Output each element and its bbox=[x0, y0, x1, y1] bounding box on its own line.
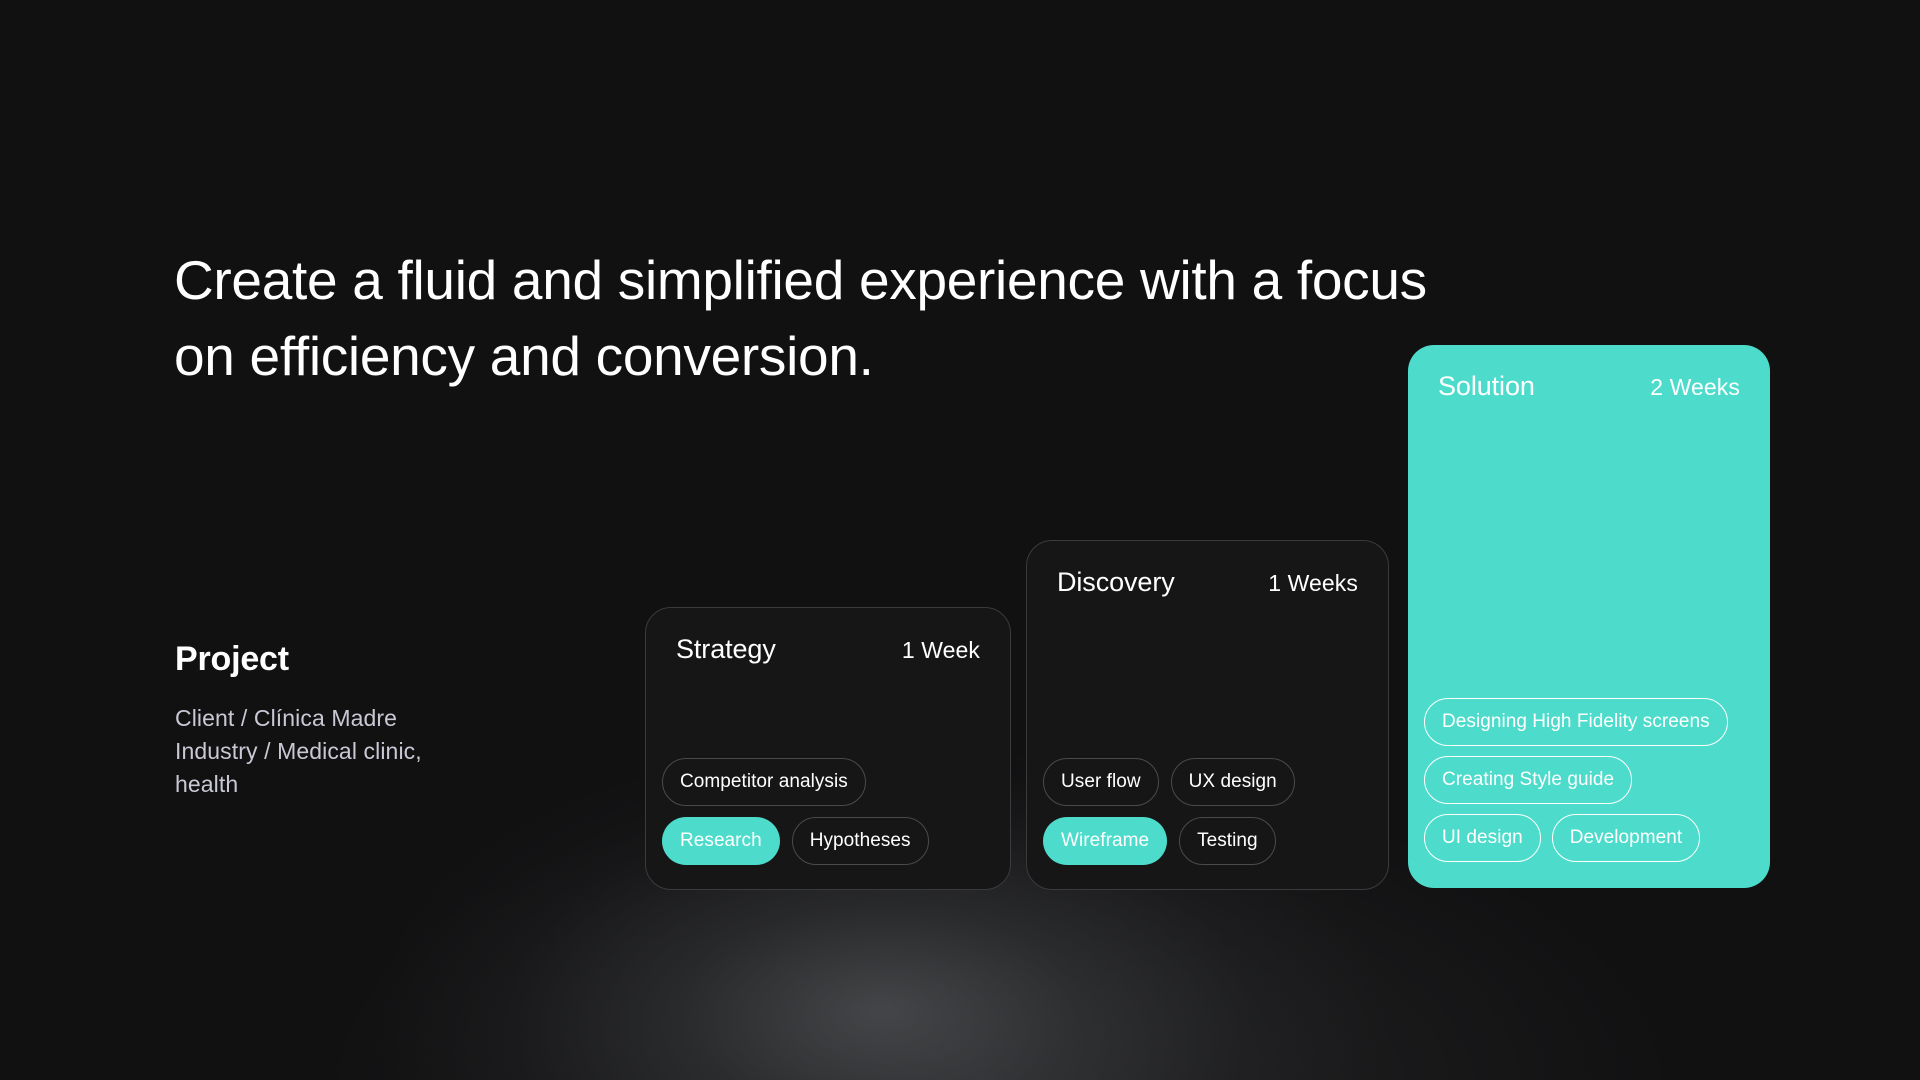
phase-tag[interactable]: Designing High Fidelity screens bbox=[1424, 698, 1728, 746]
page-title: Create a fluid and simplified experience… bbox=[174, 242, 1474, 394]
phase-tag-list: Competitor analysis Research Hypotheses bbox=[646, 758, 1010, 889]
phase-card-header: Strategy 1 Week bbox=[646, 608, 1010, 665]
phase-title: Solution bbox=[1438, 371, 1535, 402]
phase-title: Discovery bbox=[1057, 567, 1175, 598]
phase-tag[interactable]: User flow bbox=[1043, 758, 1159, 806]
phase-tag[interactable]: Creating Style guide bbox=[1424, 756, 1632, 804]
phase-tag[interactable]: Hypotheses bbox=[792, 817, 929, 865]
phase-tag-list: Designing High Fidelity screens Creating… bbox=[1408, 698, 1770, 888]
phase-tag[interactable]: UI design bbox=[1424, 814, 1541, 862]
project-industry-line-2: health bbox=[175, 768, 505, 801]
project-heading: Project bbox=[175, 638, 505, 680]
phase-duration: 1 Week bbox=[902, 637, 980, 664]
phase-tag[interactable]: UX design bbox=[1171, 758, 1295, 806]
phase-card-header: Discovery 1 Weeks bbox=[1027, 541, 1388, 598]
phase-tag[interactable]: Testing bbox=[1179, 817, 1276, 865]
phase-duration: 1 Weeks bbox=[1268, 570, 1358, 597]
phase-tag-active[interactable]: Wireframe bbox=[1043, 817, 1167, 865]
phase-tag[interactable]: Development bbox=[1552, 814, 1701, 862]
project-industry-line: Industry / Medical clinic, bbox=[175, 735, 505, 768]
phase-card-header: Solution 2 Weeks bbox=[1408, 345, 1770, 402]
phase-tag-active[interactable]: Research bbox=[662, 817, 780, 865]
project-summary: Project Client / Clínica Madre Industry … bbox=[175, 638, 505, 801]
project-client-line: Client / Clínica Madre bbox=[175, 702, 505, 735]
phase-tag-list: User flow UX design Wireframe Testing bbox=[1027, 758, 1388, 889]
project-meta: Client / Clínica Madre Industry / Medica… bbox=[175, 702, 505, 801]
phase-card-strategy[interactable]: Strategy 1 Week Competitor analysis Rese… bbox=[645, 607, 1011, 890]
phase-title: Strategy bbox=[676, 634, 776, 665]
phase-card-solution[interactable]: Solution 2 Weeks Designing High Fidelity… bbox=[1408, 345, 1770, 888]
phase-duration: 2 Weeks bbox=[1650, 374, 1740, 401]
phase-tag[interactable]: Competitor analysis bbox=[662, 758, 866, 806]
slide-canvas: Create a fluid and simplified experience… bbox=[0, 0, 1920, 1080]
phase-card-discovery[interactable]: Discovery 1 Weeks User flow UX design Wi… bbox=[1026, 540, 1389, 890]
